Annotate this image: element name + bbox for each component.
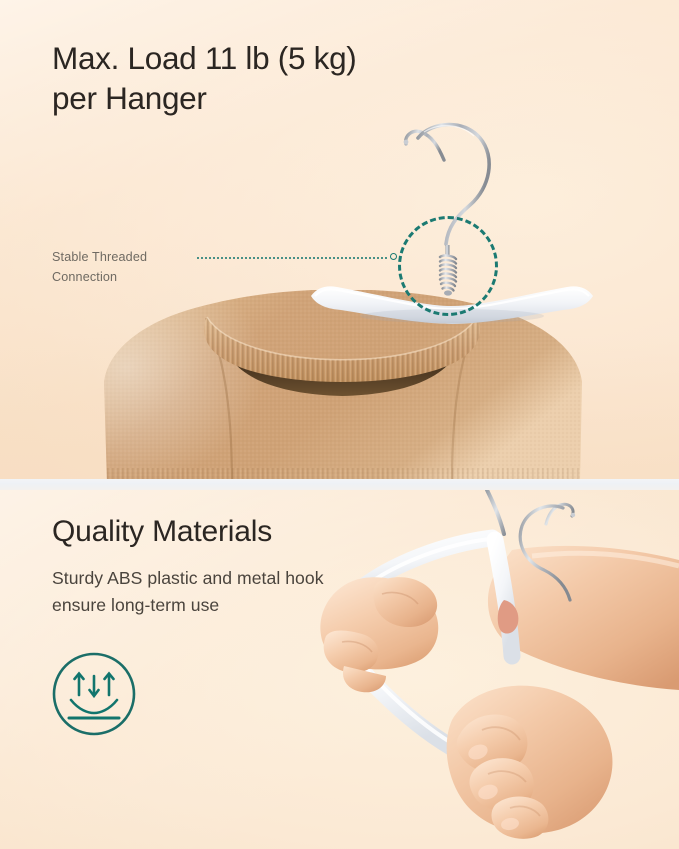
- dotted-leader-line-icon: [196, 257, 388, 259]
- metal-hook-icon: [500, 500, 590, 610]
- product-infographic-page: Max. Load 11 lb (5 kg) per Hanger Stable…: [0, 0, 679, 849]
- top-headline: Max. Load 11 lb (5 kg) per Hanger: [52, 38, 482, 118]
- flexibility-arrows-icon: [50, 650, 138, 738]
- section-divider: [0, 479, 679, 490]
- bottom-heading: Quality Materials: [52, 513, 272, 551]
- circle-marker-icon: [390, 253, 397, 260]
- top-feature-panel: Max. Load 11 lb (5 kg) per Hanger Stable…: [0, 0, 679, 479]
- hands-bending-hanger-icon: [282, 490, 679, 849]
- dashed-focus-circle-icon: [398, 216, 498, 316]
